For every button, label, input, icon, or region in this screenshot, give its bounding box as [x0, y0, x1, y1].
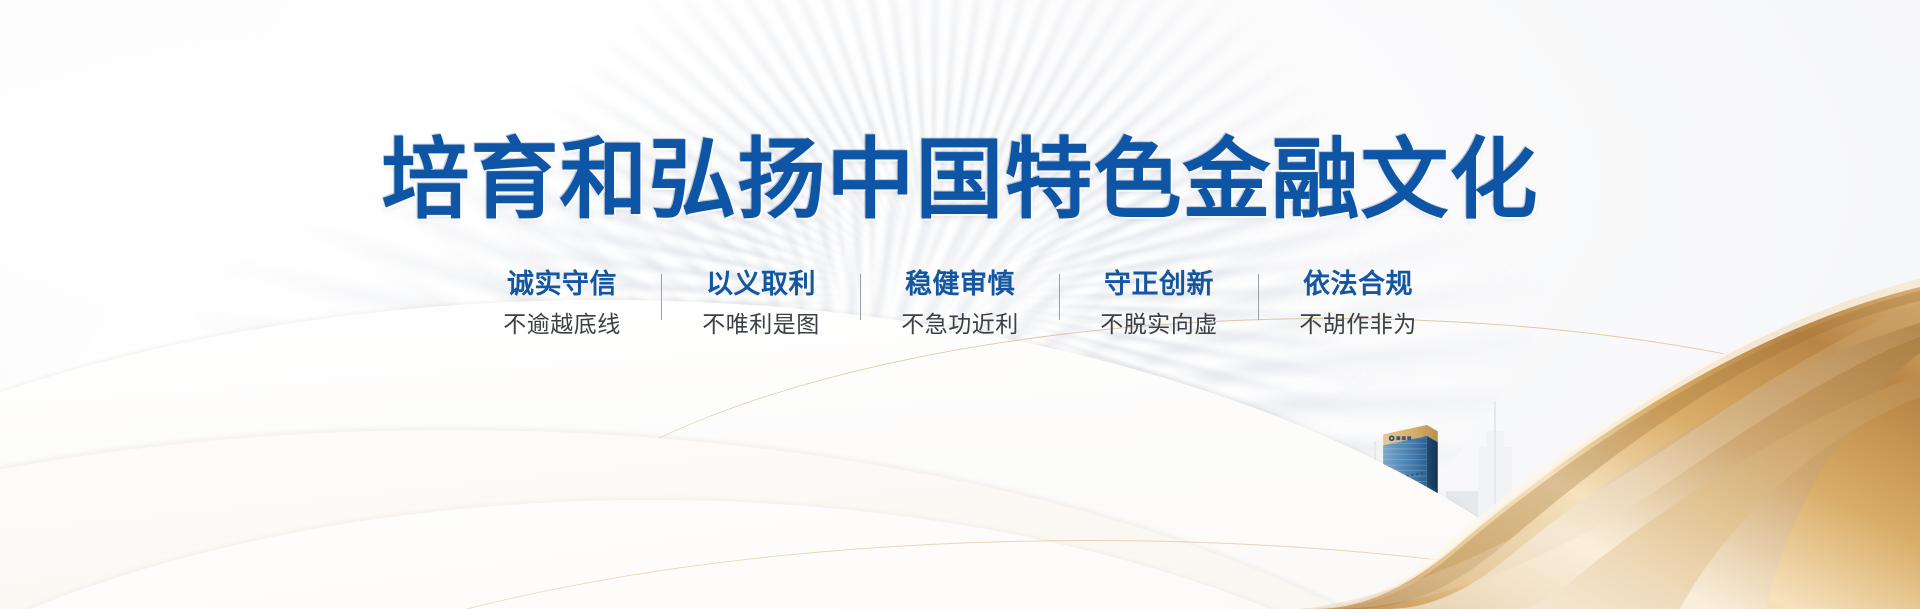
value-item-1: 诚实守信 不逾越底线	[486, 268, 638, 340]
value-item-2: 以义取利 不唯利是图	[685, 268, 837, 340]
value-item-4: 守正创新 不脱实向虚	[1083, 268, 1235, 340]
value-divider	[661, 274, 662, 320]
page-title: 培育和弘扬中国特色金融文化	[0, 136, 1920, 224]
value-subtext: 不胡作非为	[1282, 311, 1434, 340]
value-item-5: 依法合规 不胡作非为	[1282, 268, 1434, 340]
finance-culture-banner: 培育和弘扬中国特色金融文化 诚实守信 不逾越底线 以义取利 不唯利是图 稳健审慎…	[0, 0, 1920, 609]
value-subtext: 不逾越底线	[486, 311, 638, 340]
value-heading: 稳健审慎	[884, 268, 1036, 302]
value-heading: 依法合规	[1282, 268, 1434, 302]
value-divider	[860, 274, 861, 320]
value-subtext: 不唯利是图	[685, 311, 837, 340]
value-subtext: 不急功近利	[884, 311, 1036, 340]
core-values-row: 诚实守信 不逾越底线 以义取利 不唯利是图 稳健审慎 不急功近利 守正创新 不脱…	[0, 268, 1920, 340]
value-divider	[1258, 274, 1259, 320]
value-subtext: 不脱实向虚	[1083, 311, 1235, 340]
value-item-3: 稳健审慎 不急功近利	[884, 268, 1036, 340]
value-heading: 诚实守信	[486, 268, 638, 302]
value-heading: 守正创新	[1083, 268, 1235, 302]
value-heading: 以义取利	[685, 268, 837, 302]
value-divider	[1059, 274, 1060, 320]
